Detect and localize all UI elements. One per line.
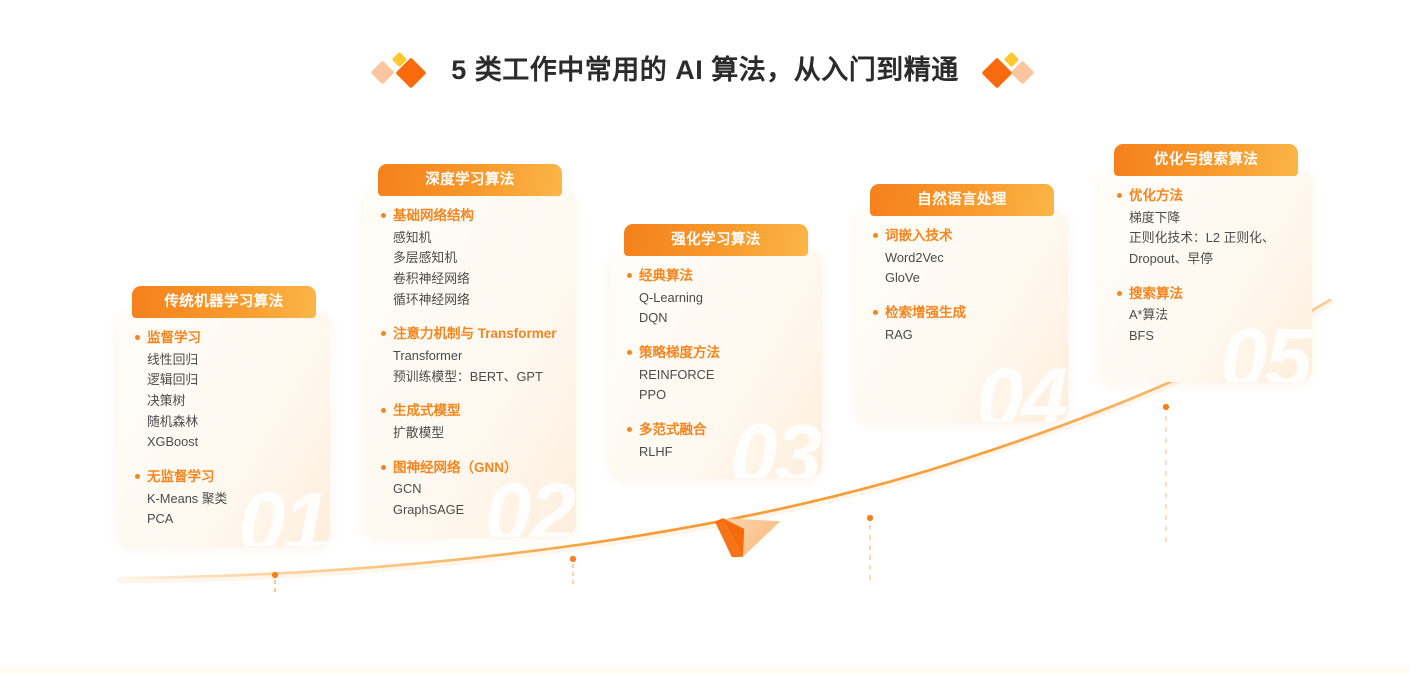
section-item: RLHF bbox=[626, 442, 808, 463]
section-item: 多层感知机 bbox=[380, 248, 562, 269]
section-item: A*算法 bbox=[1116, 305, 1298, 326]
diamond-pale-icon bbox=[371, 60, 395, 84]
section-item: 感知机 bbox=[380, 228, 562, 249]
section-heading: 搜索算法 bbox=[1116, 284, 1298, 304]
card-section: 词嵌入技术 Word2Vec GloVe bbox=[872, 226, 1054, 289]
card-body-01: 01 监督学习 线性回归 逻辑回归 决策树 随机森林 XGBoost 无监督学习… bbox=[118, 312, 330, 546]
section-heading: 多范式融合 bbox=[626, 420, 808, 440]
card-tab-03[interactable]: 强化学习算法 bbox=[624, 224, 808, 256]
timeline-node bbox=[867, 515, 873, 521]
card-section: 多范式融合 RLHF bbox=[626, 420, 808, 462]
card-tab-label: 深度学习算法 bbox=[425, 173, 514, 188]
section-item: 预训练模型：BERT、GPT bbox=[380, 367, 562, 388]
section-item: 线性回归 bbox=[134, 350, 316, 371]
card-tab-04[interactable]: 自然语言处理 bbox=[870, 184, 1054, 216]
card-section: 基础网络结构 感知机 多层感知机 卷积神经网络 循环神经网络 bbox=[380, 206, 562, 310]
section-item: 决策树 bbox=[134, 391, 316, 412]
card-section: 经典算法 Q-Learning DQN bbox=[626, 266, 808, 329]
card-section: 图神经网络（GNN） GCN GraphSAGE bbox=[380, 458, 562, 521]
algorithm-card-05[interactable]: 优化与搜索算法 05 优化方法 梯度下降 正则化技术：L2 正则化、 Dropo… bbox=[1100, 144, 1312, 382]
section-heading: 词嵌入技术 bbox=[872, 226, 1054, 246]
section-heading: 优化方法 bbox=[1116, 186, 1298, 206]
card-section: 注意力机制与 Transformer Transformer 预训练模型：BER… bbox=[380, 324, 562, 387]
section-heading: 生成式模型 bbox=[380, 401, 562, 421]
section-item: 正则化技术：L2 正则化、 Dropout、早停 bbox=[1116, 228, 1298, 269]
card-tab-label: 强化学习算法 bbox=[671, 233, 760, 248]
algorithm-card-04[interactable]: 自然语言处理 04 词嵌入技术 Word2Vec GloVe 检索增强生成 RA… bbox=[856, 184, 1068, 422]
section-item: REINFORCE bbox=[626, 365, 808, 386]
section-item: GloVe bbox=[872, 268, 1054, 289]
card-section: 监督学习 线性回归 逻辑回归 决策树 随机森林 XGBoost bbox=[134, 328, 316, 453]
section-heading: 基础网络结构 bbox=[380, 206, 562, 226]
section-heading: 策略梯度方法 bbox=[626, 343, 808, 363]
diamond-cluster-right-icon bbox=[981, 50, 1037, 90]
section-item: GraphSAGE bbox=[380, 500, 562, 521]
algorithm-card-02[interactable]: 深度学习算法 02 基础网络结构 感知机 多层感知机 卷积神经网络 循环神经网络… bbox=[364, 164, 576, 537]
section-heading: 图神经网络（GNN） bbox=[380, 458, 562, 478]
card-tab-label: 传统机器学习算法 bbox=[164, 295, 283, 310]
section-item: RAG bbox=[872, 325, 1054, 346]
section-item: Transformer bbox=[380, 346, 562, 367]
page-header: 5 类工作中常用的 AI 算法，从入门到精通 bbox=[0, 46, 1410, 94]
section-heading: 监督学习 bbox=[134, 328, 316, 348]
section-item: PCA bbox=[134, 509, 316, 530]
card-body-02: 02 基础网络结构 感知机 多层感知机 卷积神经网络 循环神经网络 注意力机制与… bbox=[364, 190, 576, 537]
card-tab-02[interactable]: 深度学习算法 bbox=[378, 164, 562, 196]
paper-plane-arrow-icon bbox=[715, 507, 786, 561]
section-heading: 检索增强生成 bbox=[872, 303, 1054, 323]
section-item: Q-Learning bbox=[626, 288, 808, 309]
section-item: Word2Vec bbox=[872, 248, 1054, 269]
section-item: GCN bbox=[380, 479, 562, 500]
algorithm-card-03[interactable]: 强化学习算法 03 经典算法 Q-Learning DQN 策略梯度方法 REI… bbox=[610, 224, 822, 478]
card-section: 生成式模型 扩散模型 bbox=[380, 401, 562, 443]
section-item: 卷积神经网络 bbox=[380, 269, 562, 290]
section-item: XGBoost bbox=[134, 432, 316, 453]
card-tab-label: 优化与搜索算法 bbox=[1154, 153, 1258, 168]
section-item: K-Means 聚类 bbox=[134, 489, 316, 510]
card-body-04: 04 词嵌入技术 Word2Vec GloVe 检索增强生成 RAG bbox=[856, 210, 1068, 422]
section-item: DQN bbox=[626, 308, 808, 329]
card-section: 搜索算法 A*算法 BFS bbox=[1116, 284, 1298, 347]
section-heading: 经典算法 bbox=[626, 266, 808, 286]
card-tab-05[interactable]: 优化与搜索算法 bbox=[1114, 144, 1298, 176]
card-tab-01[interactable]: 传统机器学习算法 bbox=[132, 286, 316, 318]
section-heading: 注意力机制与 Transformer bbox=[380, 324, 562, 344]
section-item: BFS bbox=[1116, 326, 1298, 347]
timeline-node bbox=[272, 572, 278, 578]
timeline-node bbox=[570, 556, 576, 562]
algorithm-card-01[interactable]: 传统机器学习算法 01 监督学习 线性回归 逻辑回归 决策树 随机森林 XGBo… bbox=[118, 286, 330, 546]
section-item: 循环神经网络 bbox=[380, 290, 562, 311]
card-tab-label: 自然语言处理 bbox=[917, 193, 1006, 208]
bottom-strip bbox=[0, 666, 1410, 674]
section-item: 随机森林 bbox=[134, 412, 316, 433]
card-section: 检索增强生成 RAG bbox=[872, 303, 1054, 345]
section-item: PPO bbox=[626, 385, 808, 406]
card-section: 优化方法 梯度下降 正则化技术：L2 正则化、 Dropout、早停 bbox=[1116, 186, 1298, 270]
diamond-cluster-left-icon bbox=[373, 50, 429, 90]
card-number-watermark: 04 bbox=[977, 356, 1066, 422]
page-title: 5 类工作中常用的 AI 算法，从入门到精通 bbox=[451, 57, 959, 84]
section-item: 逻辑回归 bbox=[134, 370, 316, 391]
card-body-03: 03 经典算法 Q-Learning DQN 策略梯度方法 REINFORCE … bbox=[610, 250, 822, 478]
card-section: 策略梯度方法 REINFORCE PPO bbox=[626, 343, 808, 406]
section-item: 梯度下降 bbox=[1116, 208, 1298, 229]
timeline-node bbox=[1163, 404, 1169, 410]
card-body-05: 05 优化方法 梯度下降 正则化技术：L2 正则化、 Dropout、早停 搜索… bbox=[1100, 170, 1312, 382]
section-item: 扩散模型 bbox=[380, 423, 562, 444]
section-heading: 无监督学习 bbox=[134, 467, 316, 487]
card-section: 无监督学习 K-Means 聚类 PCA bbox=[134, 467, 316, 530]
